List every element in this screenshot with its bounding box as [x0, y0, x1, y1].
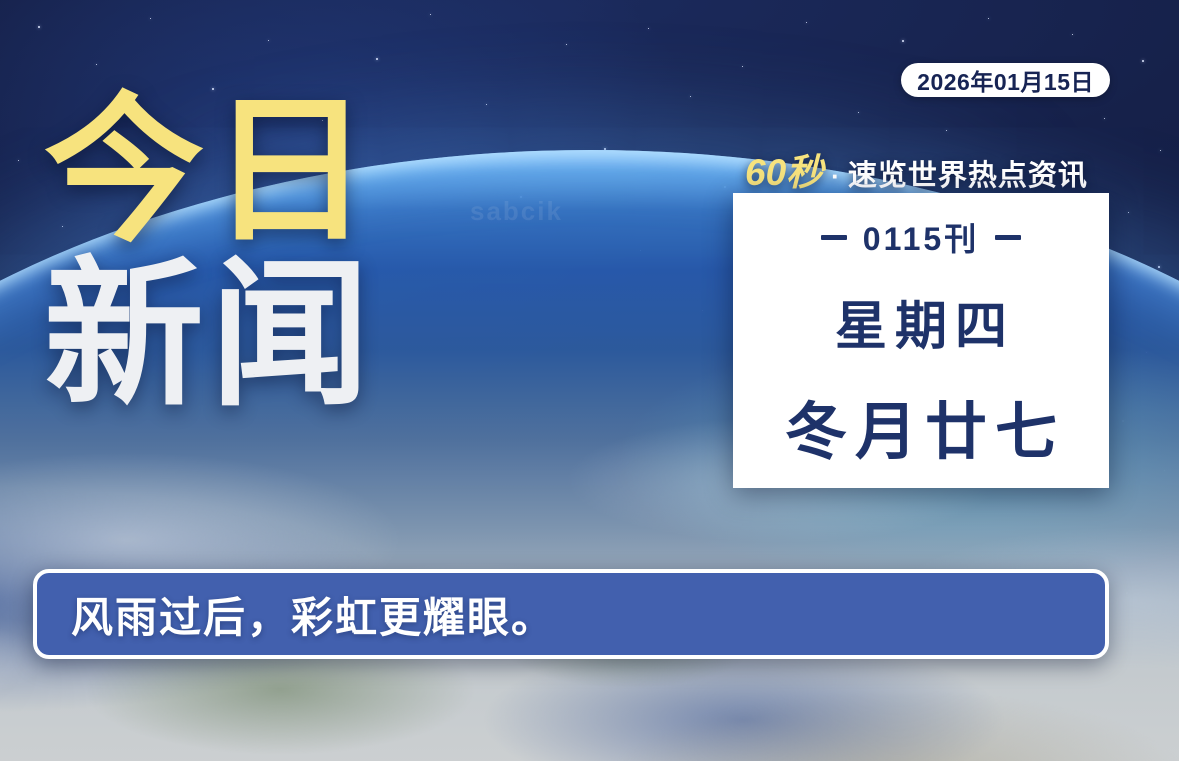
lunar-date-label: 冬月廿七 — [777, 381, 1065, 471]
page-title: 今日 新闻 — [44, 96, 376, 411]
quote-text: 风雨过后，彩虹更耀眼。 — [37, 584, 555, 645]
background-watermark: sabcik — [470, 196, 563, 227]
date-badge: 2026年01月15日 — [901, 63, 1110, 97]
dash-right-icon — [995, 235, 1021, 240]
quote-banner: 风雨过后，彩虹更耀眼。 — [33, 569, 1109, 659]
dash-left-icon — [821, 235, 847, 240]
headline-line-2: 新闻 — [44, 260, 376, 410]
tagline-description: 速览世界热点资讯 — [848, 152, 1088, 194]
issue-number: 0115刊 — [863, 214, 979, 260]
headline-line-1: 今日 — [44, 96, 376, 246]
tagline: 60秒 · 速览世界热点资讯 — [745, 142, 1088, 196]
tagline-separator-dot: · — [829, 161, 842, 192]
weekday-label: 星期四 — [827, 284, 1015, 359]
news-poster: sabcik 今日 新闻 2026年01月15日 60秒 · 速览世界热点资讯 … — [0, 0, 1179, 761]
tagline-seconds: 60秒 — [745, 142, 823, 196]
issue-number-row: 0115刊 — [821, 214, 1021, 260]
issue-info-card: 0115刊 星期四 冬月廿七 — [733, 193, 1109, 488]
